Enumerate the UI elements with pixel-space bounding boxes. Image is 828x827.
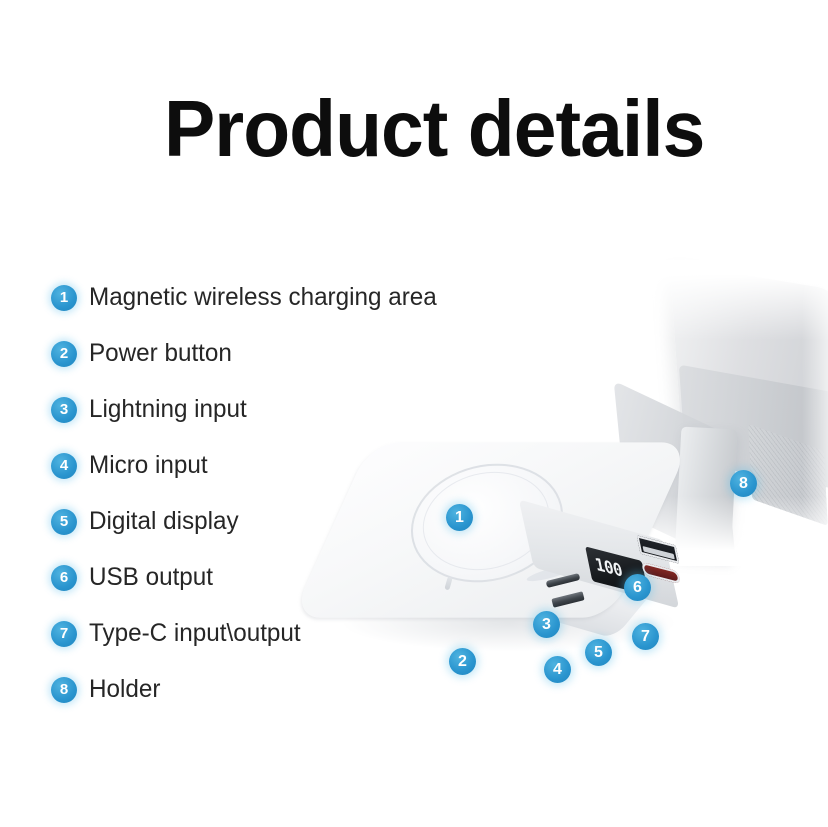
- legend-badge-7-icon: 7: [51, 621, 77, 647]
- legend-badge-4-icon: 4: [51, 453, 77, 479]
- legend-badge-8-icon: 8: [51, 677, 77, 703]
- legend-label-3: Lightning input: [89, 393, 247, 425]
- legend-label-6: USB output: [89, 561, 213, 593]
- legend-badge-1-icon: 1: [51, 285, 77, 311]
- battery-percent-value: 100: [593, 555, 624, 581]
- legend-badge-5-icon: 5: [51, 509, 77, 535]
- legend-badge-2-icon: 2: [51, 341, 77, 367]
- page-title: Product details: [164, 86, 704, 172]
- legend-label-4: Micro input: [89, 449, 208, 481]
- callout-badge-7-icon: 7: [632, 623, 659, 650]
- callout-badge-2-icon: 2: [449, 648, 476, 675]
- callout-badge-4-icon: 4: [544, 656, 571, 683]
- callout-badge-6-icon: 6: [624, 574, 651, 601]
- callout-badge-3-icon: 3: [533, 611, 560, 638]
- legend-label-5: Digital display: [89, 505, 239, 537]
- holder-fade-top: [630, 260, 828, 340]
- legend-badge-6-icon: 6: [51, 565, 77, 591]
- legend-badge-3-icon: 3: [51, 397, 77, 423]
- power-bank-body: 100 %: [318, 445, 688, 660]
- product-details-page: Product details 1 Magnetic wireless char…: [0, 0, 828, 827]
- callout-badge-1-icon: 1: [446, 504, 473, 531]
- legend-label-2: Power button: [89, 337, 232, 369]
- callout-badge-5-icon: 5: [585, 639, 612, 666]
- legend-label-8: Holder: [89, 673, 160, 705]
- callout-badge-8-icon: 8: [730, 470, 757, 497]
- legend-label-7: Type-C input\output: [89, 617, 301, 649]
